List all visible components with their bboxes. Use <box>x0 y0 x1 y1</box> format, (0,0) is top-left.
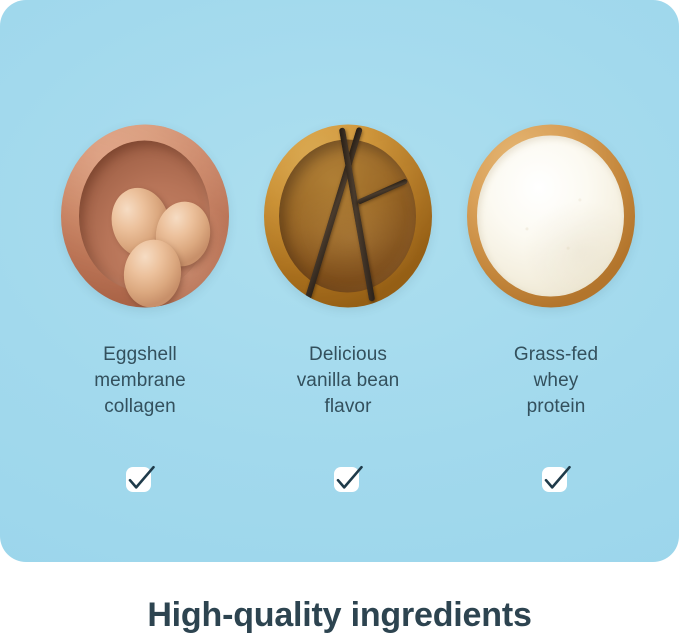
page-title: High-quality ingredients <box>0 596 679 635</box>
label-line: flavor <box>248 394 448 420</box>
checkbox-eggshell-membrane-collagen <box>123 462 157 496</box>
ingredient-labels-row: Eggshell membrane collagen Delicious van… <box>0 342 679 437</box>
checkmark-icon <box>331 462 365 496</box>
ingredient-image-slot <box>52 122 237 310</box>
label-line: whey <box>456 368 656 394</box>
ingredient-images-row <box>0 122 679 310</box>
label-line: membrane <box>40 368 240 394</box>
checkbox-delicious-vanilla-bean-flavor <box>331 462 365 496</box>
ingredient-label-eggshell-membrane-collagen: Eggshell membrane collagen <box>40 342 240 420</box>
checkbox-grass-fed-whey-protein <box>539 462 573 496</box>
label-line: vanilla bean <box>248 368 448 394</box>
ingredients-promo-card: Eggshell membrane collagen Delicious van… <box>0 0 679 642</box>
wooden-bowl-with-crossed-vanilla-bean-pods-image <box>264 125 432 308</box>
powder-texture-overlay <box>477 135 623 296</box>
bowl-interior <box>79 141 210 291</box>
wooden-bowl-with-white-whey-protein-powder-image <box>467 125 635 308</box>
ingredient-label-delicious-vanilla-bean-flavor: Delicious vanilla bean flavor <box>248 342 448 420</box>
checkmarks-row <box>0 462 679 502</box>
label-line: Delicious <box>248 342 448 368</box>
checkmark-icon <box>539 462 573 496</box>
label-line: protein <box>456 394 656 420</box>
checkmark-icon <box>123 462 157 496</box>
whey-protein-powder <box>477 135 623 296</box>
ingredient-image-slot <box>458 122 643 310</box>
terracotta-bowl-with-three-brown-eggs-image <box>61 125 229 308</box>
label-line: Eggshell <box>40 342 240 368</box>
hero-panel: Eggshell membrane collagen Delicious van… <box>0 0 679 562</box>
ingredient-image-slot <box>255 122 440 310</box>
label-line: collagen <box>40 394 240 420</box>
label-line: Grass-fed <box>456 342 656 368</box>
ingredient-label-grass-fed-whey-protein: Grass-fed whey protein <box>456 342 656 420</box>
